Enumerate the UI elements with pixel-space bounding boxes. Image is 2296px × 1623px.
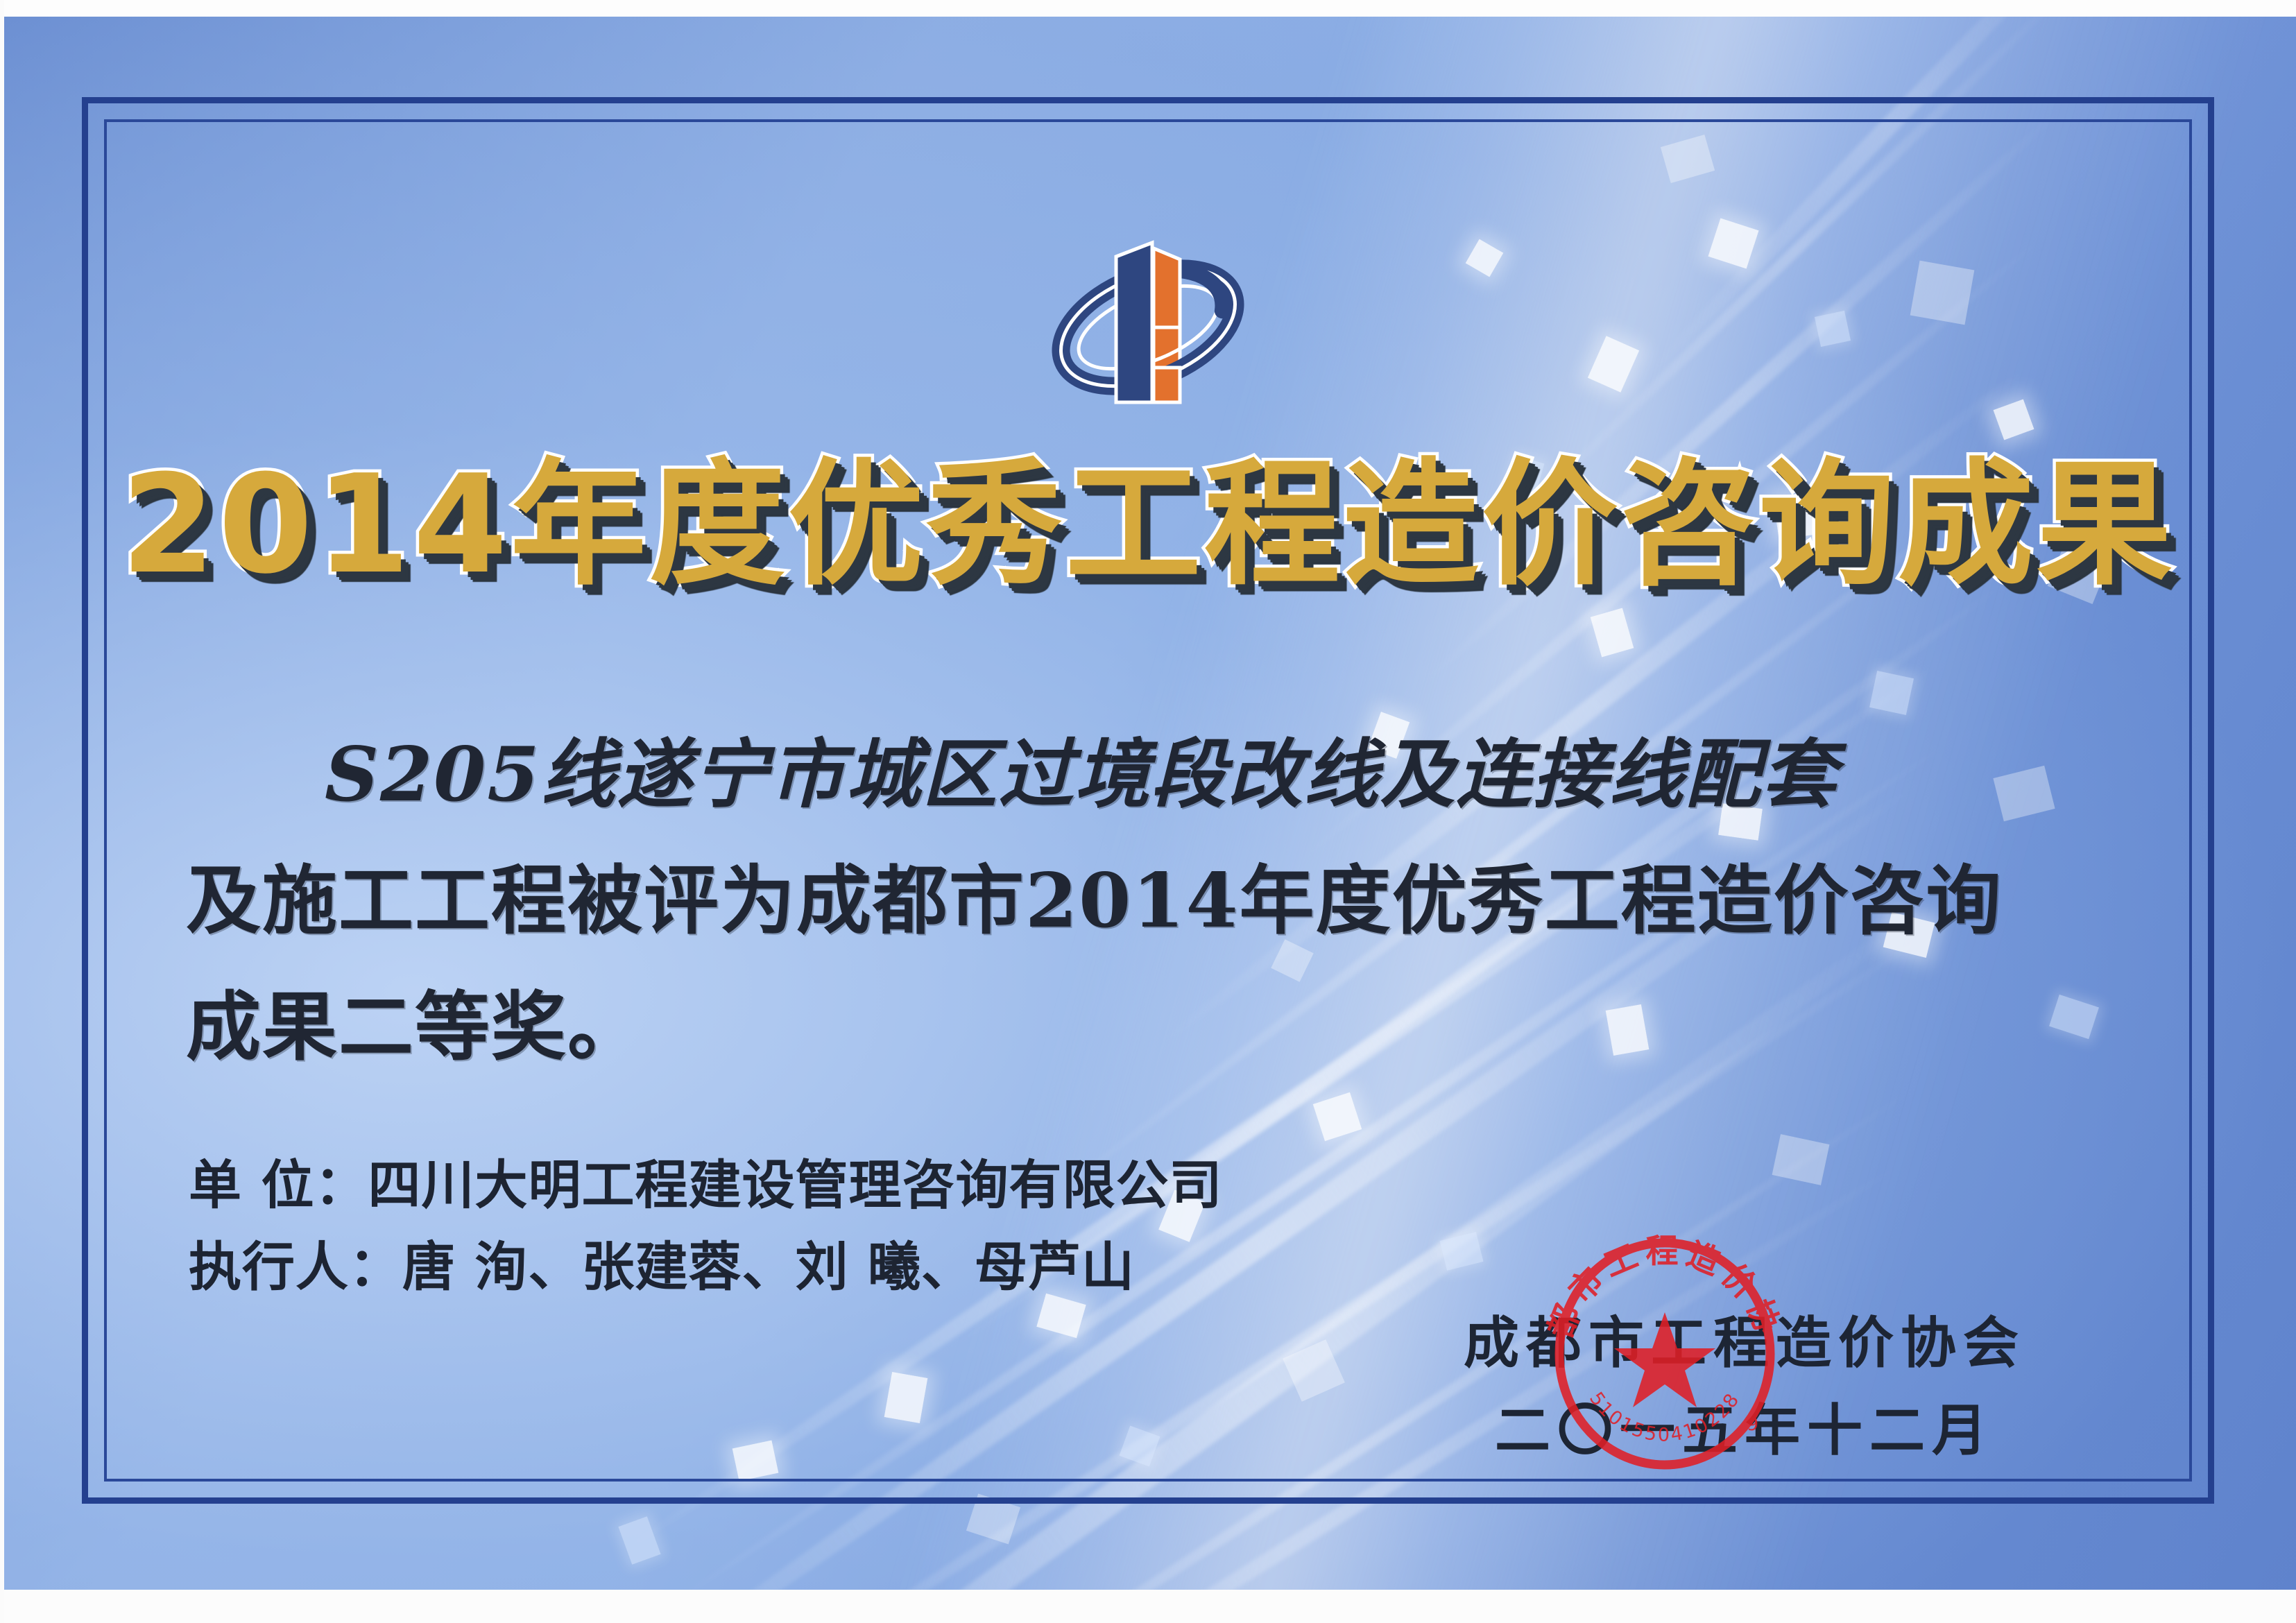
body-line-3: 成果二等奖。	[186, 964, 2121, 1090]
meta-line-unit: 单 位：四川大明工程建设管理咨询有限公司	[189, 1144, 1222, 1226]
cost-engineering-association-logo-icon	[1044, 223, 1252, 418]
meta-line-executors: 执行人：唐 洵、张建蓉、刘 曦、母芦山	[189, 1226, 1222, 1308]
body-line-2: 及施工工程被评为成都市2014年度优秀工程造价咨询	[186, 838, 2121, 964]
award-certificate: 2014年度优秀工程造价咨询成果 S205线遂宁市城区过境段改线及连接线配套 及…	[0, 0, 2296, 1623]
scan-edge-top	[0, 0, 2296, 17]
scan-edge-left	[0, 0, 4, 1623]
emblem-container	[0, 223, 2296, 418]
award-body: S205线遂宁市城区过境段改线及连接线配套 及施工工程被评为成都市2014年度优…	[186, 712, 2121, 1090]
body-line-1: S205线遂宁市城区过境段改线及连接线配套	[186, 712, 2121, 838]
award-title: 2014年度优秀工程造价咨询成果	[0, 454, 2296, 598]
scan-edge-bottom	[0, 1590, 2296, 1623]
award-meta: 单 位：四川大明工程建设管理咨询有限公司 执行人：唐 洵、张建蓉、刘 曦、母芦山	[189, 1144, 1222, 1308]
certificate-board: 2014年度优秀工程造价咨询成果 S205线遂宁市城区过境段改线及连接线配套 及…	[0, 15, 2296, 1590]
signature-date: 二〇一五年十二月	[1464, 1387, 2025, 1475]
award-signature: 成都市工程造价协会 二〇一五年十二月	[1464, 1300, 2025, 1475]
signature-issuer: 成都市工程造价协会	[1464, 1300, 2025, 1387]
